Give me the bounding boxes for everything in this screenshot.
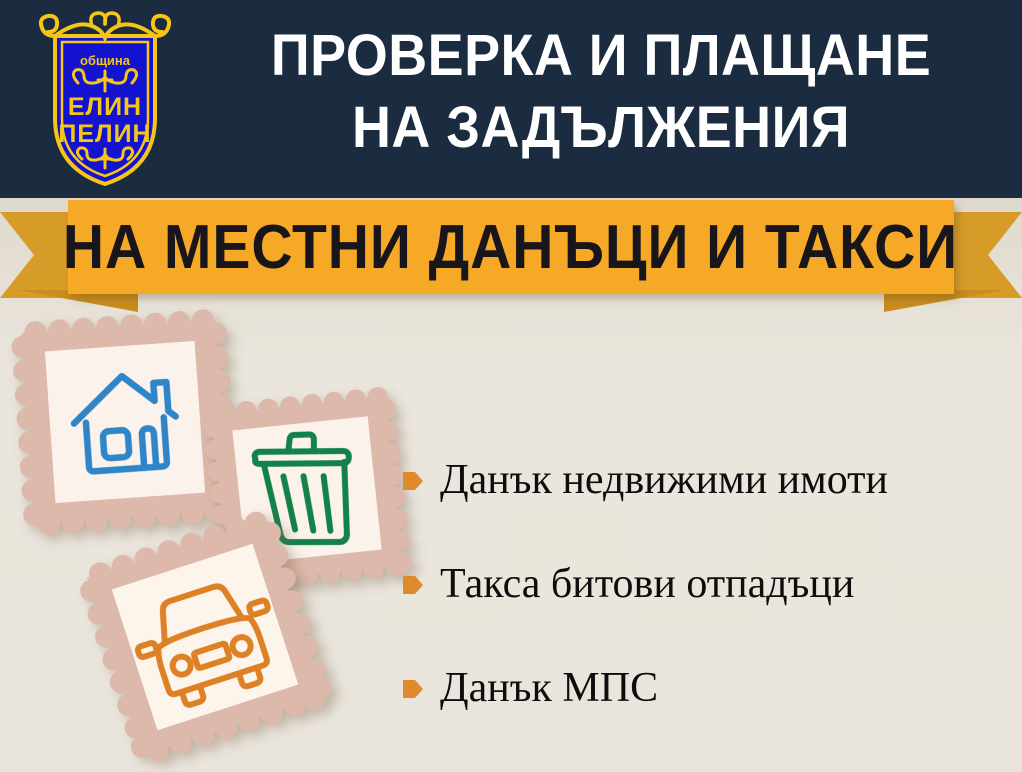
arrow-bullet-icon <box>402 676 424 702</box>
service-label-vehicle-tax: Данък МПС <box>440 665 658 711</box>
ribbon-banner-text: НА МЕСТНИ ДАНЪЦИ И ТАКСИ <box>63 212 958 283</box>
poster-title: ПРОВЕРКА И ПЛАЩАНЕ НА ЗАДЪЛЖЕНИЯ <box>215 20 987 164</box>
list-item[interactable]: Такса битови отпадъци <box>402 532 1012 636</box>
municipality-crest-logo: община ЕЛИН ПЕЛИН <box>22 8 188 190</box>
services-list: Данък недвижими имоти Такса битови отпад… <box>402 428 1012 740</box>
poster-title-line-1: ПРОВЕРКА И ПЛАЩАНЕ <box>215 20 987 92</box>
service-label-waste-fee: Такса битови отпадъци <box>440 561 854 607</box>
crest-name-line-2: ПЕЛИН <box>58 120 151 148</box>
crest-name-line-1: ЕЛИН <box>68 93 142 121</box>
ribbon-banner: НА МЕСТНИ ДАНЪЦИ И ТАКСИ <box>0 198 1022 308</box>
poster-canvas: община ЕЛИН ПЕЛИН ПРОВЕРКА И ПЛАЩАНЕ НА … <box>0 0 1022 772</box>
crest-municipality-label: община <box>80 53 131 68</box>
arrow-bullet-icon <box>402 572 424 598</box>
ribbon-banner-body: НА МЕСТНИ ДАНЪЦИ И ТАКСИ <box>68 200 954 294</box>
service-label-property-tax: Данък недвижими имоти <box>440 457 888 503</box>
poster-title-line-2: НА ЗАДЪЛЖЕНИЯ <box>215 92 987 164</box>
arrow-bullet-icon <box>402 468 424 494</box>
list-item[interactable]: Данък МПС <box>402 636 1012 740</box>
list-item[interactable]: Данък недвижими имоти <box>402 428 1012 532</box>
stamp-paper-house <box>45 341 205 503</box>
